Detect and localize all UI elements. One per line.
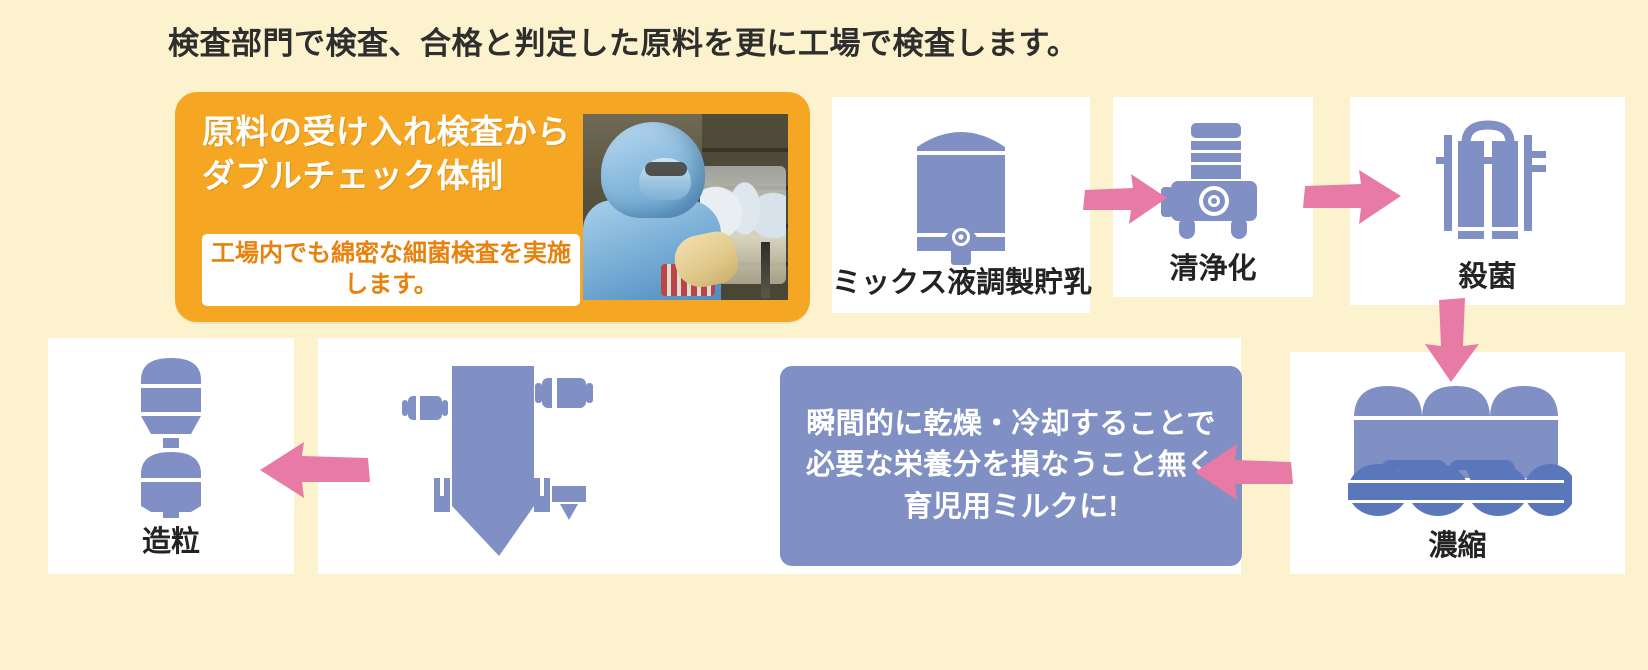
promo-title-line1: 原料の受け入れ検査から <box>202 110 582 154</box>
callout-line3: 育児用ミルクに! <box>806 487 1216 528</box>
evaporator-tanks-icon <box>1290 382 1625 518</box>
diagram-stage: 検査部門で検査、合格と判定した原料を更に工場で検査します。 原料の受け入れ検査か… <box>0 0 1648 670</box>
promo-panel: 原料の受け入れ検査から ダブルチェック体制 工場内でも綿密な細菌検査を実施します… <box>175 92 810 322</box>
step-card-conc: 濃縮 <box>1290 352 1625 574</box>
storage-tank-icon <box>832 115 1090 265</box>
promo-photo <box>583 114 788 300</box>
promo-note: 工場内でも綿密な細菌検査を実施します。 <box>202 234 580 306</box>
arrow-right-icon-1 <box>1083 172 1169 228</box>
step-label-gran: 造粒 <box>48 518 294 560</box>
callout-box: 瞬間的に乾燥・冷却することで 必要な栄養分を損なうこと無く 育児用ミルクに! <box>780 366 1242 566</box>
spray-dryer-icon <box>394 354 604 560</box>
step-label-steri: 殺菌 <box>1350 253 1625 295</box>
arrow-down-icon <box>1423 298 1481 384</box>
photo-equipment-pole <box>761 242 770 298</box>
step-label-mix: ミックス液調製貯乳 <box>832 259 1090 301</box>
promo-title-line2: ダブルチェック体制 <box>202 154 582 198</box>
step-card-mix: ミックス液調製貯乳 <box>832 97 1090 313</box>
photo-technician-goggles <box>645 162 687 176</box>
callout-line1: 瞬間的に乾燥・冷却することで <box>806 404 1216 445</box>
promo-title: 原料の受け入れ検査から ダブルチェック体制 <box>202 110 582 197</box>
arrow-right-icon-2 <box>1303 168 1403 226</box>
callout-line2: 必要な栄養分を損なうこと無く <box>806 445 1216 486</box>
step-label-conc: 濃縮 <box>1290 522 1625 564</box>
step-label-clean: 清浄化 <box>1113 245 1313 287</box>
arrow-left-icon-2 <box>258 440 370 500</box>
page-title: 検査部門で検査、合格と判定した原料を更に工場で検査します。 <box>168 18 1078 63</box>
arrow-left-icon-1 <box>1193 442 1293 502</box>
